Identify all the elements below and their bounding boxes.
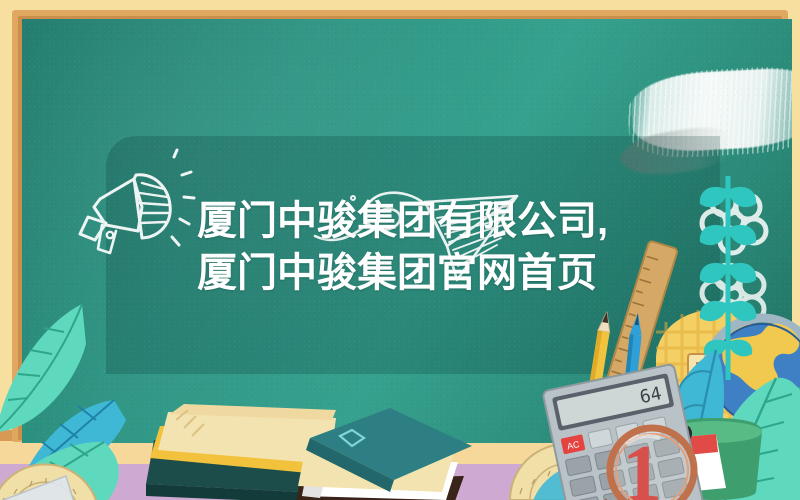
eraser-streaks-icon [626,64,792,160]
book-stack-center [294,400,494,500]
eraser-smudge-icon [630,66,792,154]
page-title: 厦门中骏集团有限公司,厦门中骏集团官网首页 [197,195,647,299]
magnifying-glass [586,422,706,500]
calculator-display-value: 64 [638,383,664,408]
megaphone-icon [50,139,200,269]
illustration-canvas: 厦门中骏集团有限公司,厦门中骏集团官网首页 [0,0,800,500]
triangle-ruler [0,474,76,500]
